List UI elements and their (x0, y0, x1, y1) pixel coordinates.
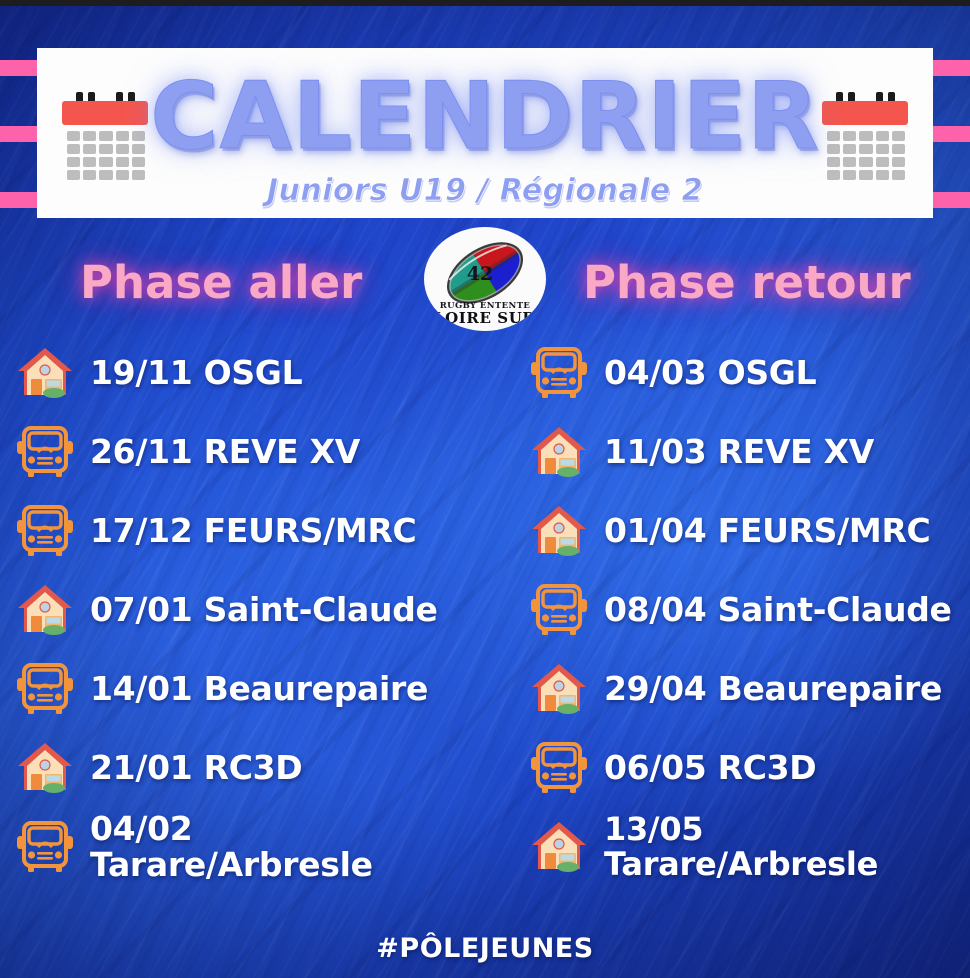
fixture-row: 19/11 OSGL (14, 333, 484, 412)
fixture-row: 17/12 FEURS/MRC (14, 491, 484, 570)
phase-retour-heading: Phase retour (583, 256, 911, 309)
header-banner: CALENDRIER Juniors U19 / Régionale 2 (37, 48, 933, 218)
house-icon (14, 579, 76, 641)
fixture-row: 04/03 OSGL (528, 333, 968, 412)
bus-icon (528, 737, 590, 799)
bus-icon (528, 737, 590, 799)
fixture-row: 29/04 Beaurepaire (528, 649, 968, 728)
house-icon (528, 421, 590, 483)
fixture-row: 11/03 REVE XV (528, 412, 968, 491)
calendar-poster: CALENDRIER Juniors U19 / Régionale 2 42 (0, 0, 970, 978)
house-icon (14, 737, 76, 799)
footer-hashtag: #PÔLEJEUNES (0, 933, 970, 964)
bus-icon (528, 579, 590, 641)
fixture-row: 21/01 RC3D (14, 728, 484, 807)
logo-line2: LOIRE SUD (434, 309, 536, 327)
fixture-row: 08/04 Saint-Claude (528, 570, 968, 649)
house-icon (528, 816, 590, 878)
bus-icon (14, 500, 76, 562)
bus-icon (528, 342, 590, 404)
fixtures-column-retour: 04/03 OSGL 11/03 REVE XV 01/04 FEURS/MRC… (528, 333, 968, 886)
house-icon (528, 658, 590, 720)
fixture-row: 01/04 FEURS/MRC (528, 491, 968, 570)
fixture-row: 13/05 Tarare/Arbresle (528, 807, 968, 886)
fixture-label: 04/02 Tarare/Arbresle (90, 811, 484, 882)
page-title: CALENDRIER (37, 70, 933, 163)
top-black-bar (0, 0, 970, 6)
house-icon (528, 816, 590, 878)
fixture-label: 04/03 OSGL (604, 355, 816, 391)
fixture-label: 07/01 Saint-Claude (90, 592, 438, 628)
fixture-label: 21/01 RC3D (90, 750, 302, 786)
house-icon (528, 658, 590, 720)
fixture-label: 01/04 FEURS/MRC (604, 513, 930, 549)
fixture-row: 14/01 Beaurepaire (14, 649, 484, 728)
bus-icon (14, 658, 76, 720)
phase-aller-heading: Phase aller (80, 256, 362, 309)
page-subtitle: Juniors U19 / Régionale 2 (37, 173, 933, 208)
fixture-label: 06/05 RC3D (604, 750, 816, 786)
house-icon (14, 342, 76, 404)
fixture-label: 26/11 REVE XV (90, 434, 360, 470)
bus-icon (14, 421, 76, 483)
bus-icon (14, 658, 76, 720)
bus-icon (528, 579, 590, 641)
house-icon (14, 579, 76, 641)
fixture-row: 26/11 REVE XV (14, 412, 484, 491)
fixture-label: 29/04 Beaurepaire (604, 671, 942, 707)
fixture-label: 17/12 FEURS/MRC (90, 513, 416, 549)
fixture-label: 08/04 Saint-Claude (604, 592, 952, 628)
fixtures-column-aller: 19/11 OSGL 26/11 REVE XV 17/12 FEURS/MRC… (14, 333, 484, 886)
fixture-row: 06/05 RC3D (528, 728, 968, 807)
fixture-label: 19/11 OSGL (90, 355, 302, 391)
rugby-ball-logo-icon: 42 RUGBY ENTENTE LOIRE SUD (424, 227, 546, 331)
fixture-label: 11/03 REVE XV (604, 434, 874, 470)
fixture-row: 07/01 Saint-Claude (14, 570, 484, 649)
logo-number: 42 (467, 263, 493, 285)
fixture-row: 04/02 Tarare/Arbresle (14, 807, 484, 886)
fixture-label: 13/05 Tarare/Arbresle (604, 812, 878, 881)
house-icon (528, 500, 590, 562)
club-logo: 42 RUGBY ENTENTE LOIRE SUD (424, 227, 546, 331)
bus-icon (14, 500, 76, 562)
bus-icon (14, 816, 76, 878)
house-icon (528, 500, 590, 562)
house-icon (528, 421, 590, 483)
fixture-label: 14/01 Beaurepaire (90, 671, 428, 707)
bus-icon (528, 342, 590, 404)
house-icon (14, 342, 76, 404)
bus-icon (14, 421, 76, 483)
bus-icon (14, 816, 76, 878)
house-icon (14, 737, 76, 799)
